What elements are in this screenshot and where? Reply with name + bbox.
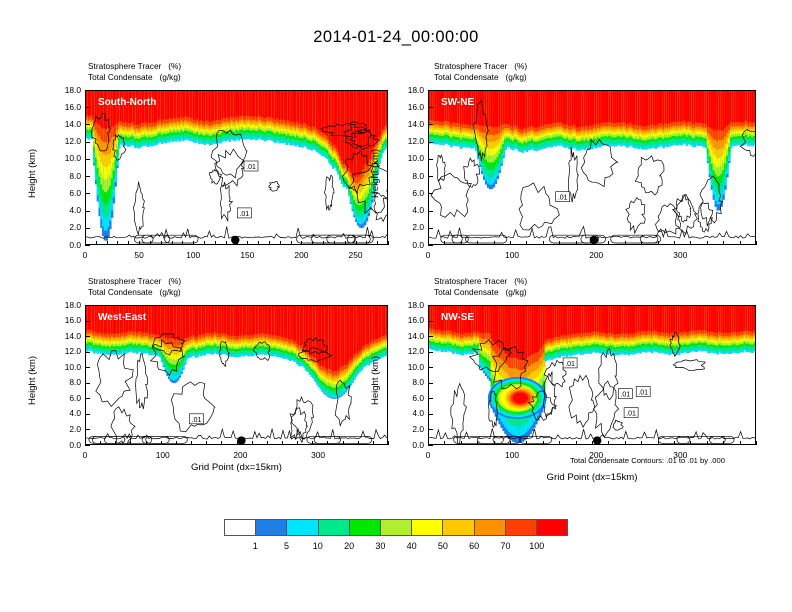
y-tick-label: 16.0 (49, 315, 81, 325)
x-axis-title: Grid Point (dx=15km) (85, 462, 388, 473)
colorbar (224, 519, 568, 536)
y-tick-mark (85, 367, 90, 368)
y-tick-mark (85, 398, 90, 399)
colorbar-swatch (256, 520, 287, 535)
x-tick-mark (258, 241, 259, 245)
y-tick-label: 18.0 (392, 300, 424, 310)
y-tick-label: 2.0 (392, 222, 424, 232)
x-tick-mark (592, 241, 593, 245)
y-tick-mark (85, 245, 90, 246)
x-tick-mark (182, 241, 183, 245)
panel-header-line1: Stratosphere Tracer (%) (88, 276, 181, 287)
x-tick-label: 100 (494, 250, 530, 260)
x-tick-mark (343, 441, 344, 445)
x-tick-mark (117, 241, 118, 245)
x-tick-mark (608, 441, 609, 445)
colorbar-swatch (443, 520, 474, 535)
y-tick-label: 0.0 (49, 440, 81, 450)
y-tick-label: 14.0 (392, 331, 424, 341)
x-tick-mark (674, 241, 675, 245)
x-tick-mark (740, 241, 741, 245)
x-tick-mark (494, 241, 495, 245)
x-tick-mark (707, 241, 708, 245)
x-tick-mark (204, 241, 205, 245)
y-tick-label: 8.0 (49, 171, 81, 181)
x-tick-mark (150, 241, 151, 245)
x-tick-mark (282, 441, 283, 445)
x-tick-mark (658, 241, 659, 245)
x-tick-mark (510, 441, 511, 445)
y-tick-mark (428, 305, 433, 306)
x-tick-label: 150 (229, 250, 265, 260)
y-axis-title: Height (km) (370, 148, 381, 197)
x-tick-label: 0 (410, 250, 446, 260)
x-tick-mark (172, 241, 173, 245)
y-tick-mark (85, 414, 90, 415)
x-tick-mark (85, 441, 86, 445)
contour-label: .01 (190, 414, 204, 424)
x-tick-mark (100, 441, 101, 445)
y-tick-mark (428, 245, 433, 246)
x-tick-mark (206, 441, 207, 445)
y-tick-mark (428, 193, 433, 194)
x-tick-mark (327, 441, 328, 445)
y-tick-label: 4.0 (392, 408, 424, 418)
x-tick-mark (559, 241, 560, 245)
colorbar-swatch (225, 520, 256, 535)
y-axis-title: Height (km) (370, 356, 381, 405)
x-tick-mark (526, 441, 527, 445)
svg-text:.01: .01 (239, 211, 249, 218)
y-tick-label: 4.0 (49, 408, 81, 418)
y-tick-label: 6.0 (49, 393, 81, 403)
x-tick-mark (161, 441, 162, 445)
y-tick-mark (85, 90, 90, 91)
x-tick-mark (477, 241, 478, 245)
x-tick-mark (366, 241, 367, 245)
x-tick-mark (461, 441, 462, 445)
y-tick-mark (85, 352, 90, 353)
y-tick-mark (428, 211, 433, 212)
y-tick-mark (428, 321, 433, 322)
x-tick-mark (723, 241, 724, 245)
y-tick-label: 6.0 (49, 188, 81, 198)
y-tick-label: 8.0 (392, 377, 424, 387)
x-tick-mark (756, 241, 757, 245)
colorbar-swatch (506, 520, 537, 535)
contour-label: .01 (563, 358, 577, 368)
y-tick-mark (85, 321, 90, 322)
y-tick-mark (85, 159, 90, 160)
y-tick-label: 10.0 (49, 362, 81, 372)
colorbar-tick-label: 100 (519, 541, 555, 551)
y-tick-label: 4.0 (392, 205, 424, 215)
x-tick-mark (221, 441, 222, 445)
y-tick-label: 14.0 (392, 119, 424, 129)
svg-text:.01: .01 (558, 195, 568, 202)
panel-header-south-north: Stratosphere Tracer (%)Total Condensate … (88, 61, 181, 82)
x-tick-mark (625, 441, 626, 445)
x-tick-mark (625, 241, 626, 245)
x-tick-mark (576, 241, 577, 245)
x-tick-mark (96, 241, 97, 245)
x-tick-mark (237, 241, 238, 245)
y-tick-mark (428, 124, 433, 125)
y-tick-mark (85, 176, 90, 177)
y-tick-label: 18.0 (392, 85, 424, 95)
x-tick-mark (267, 441, 268, 445)
x-tick-label: 200 (283, 250, 319, 260)
x-tick-mark (592, 441, 593, 445)
contour-label: .01 (237, 208, 251, 218)
panel-header-line2: Total Condensate (g/kg) (88, 287, 181, 298)
contour-label: .01 (636, 387, 650, 397)
y-tick-label: 16.0 (49, 102, 81, 112)
y-tick-label: 16.0 (392, 315, 424, 325)
y-tick-label: 14.0 (49, 331, 81, 341)
y-tick-label: 2.0 (49, 222, 81, 232)
x-tick-mark (373, 441, 374, 445)
y-tick-label: 12.0 (49, 346, 81, 356)
y-tick-mark (85, 445, 90, 446)
y-tick-label: 6.0 (392, 393, 424, 403)
x-tick-mark (641, 241, 642, 245)
y-tick-label: 8.0 (49, 377, 81, 387)
y-tick-mark (85, 336, 90, 337)
y-tick-mark (428, 176, 433, 177)
x-tick-label: 200 (222, 450, 258, 460)
y-tick-label: 18.0 (49, 85, 81, 95)
x-tick-mark (139, 241, 140, 245)
panel-header-nw-se: Stratosphere Tracer (%)Total Condensate … (434, 276, 527, 297)
x-tick-mark (107, 241, 108, 245)
y-axis-title: Height (km) (27, 356, 38, 405)
page-title: 2014-01-24_00:00:00 (0, 28, 792, 47)
x-tick-mark (576, 441, 577, 445)
y-tick-mark (85, 124, 90, 125)
y-tick-label: 16.0 (392, 102, 424, 112)
y-tick-mark (428, 352, 433, 353)
x-tick-mark (323, 241, 324, 245)
x-tick-mark (641, 441, 642, 445)
contour-label: .01 (624, 408, 638, 418)
panel-header-sw-ne: Stratosphere Tracer (%)Total Condensate … (434, 61, 527, 82)
x-axis-title: Grid Point (dx=15km) (428, 472, 756, 483)
location-marker (593, 436, 601, 444)
x-tick-mark (269, 241, 270, 245)
contour-footnote: Total Condensate Contours: .01 to .01 by… (570, 456, 725, 465)
colorbar-swatch (287, 520, 318, 535)
x-tick-label: 0 (410, 450, 446, 460)
x-tick-mark (358, 441, 359, 445)
x-tick-mark (301, 241, 302, 245)
plot-area-south-north[interactable]: .01.01South-North (85, 90, 388, 245)
y-tick-mark (85, 228, 90, 229)
y-tick-label: 14.0 (49, 119, 81, 129)
colorbar-swatch (319, 520, 350, 535)
panel-header-line1: Stratosphere Tracer (%) (88, 61, 181, 72)
y-tick-label: 18.0 (49, 300, 81, 310)
plot-area-sw-ne[interactable]: .01SW-NE (428, 90, 756, 245)
x-tick-mark (543, 441, 544, 445)
x-tick-label: 0 (67, 450, 103, 460)
x-tick-label: 100 (175, 250, 211, 260)
y-tick-label: 8.0 (392, 171, 424, 181)
x-tick-mark (128, 241, 129, 245)
x-tick-mark (146, 441, 147, 445)
x-tick-mark (345, 241, 346, 245)
y-tick-label: 2.0 (392, 424, 424, 434)
y-tick-mark (428, 383, 433, 384)
colorbar-swatch (475, 520, 506, 535)
colorbar-swatch (381, 520, 412, 535)
plot-area-west-east[interactable]: .01West-East (85, 305, 388, 445)
svg-text:.01: .01 (246, 164, 256, 171)
y-tick-label: 12.0 (392, 346, 424, 356)
x-tick-label: 250 (338, 250, 374, 260)
x-tick-mark (740, 441, 741, 445)
x-tick-mark (237, 441, 238, 445)
x-tick-mark (388, 441, 389, 445)
y-tick-mark (428, 336, 433, 337)
y-tick-mark (85, 211, 90, 212)
panel-header-line1: Stratosphere Tracer (%) (434, 61, 527, 72)
x-tick-mark (356, 241, 357, 245)
y-tick-mark (85, 429, 90, 430)
x-tick-label: 300 (300, 450, 336, 460)
x-tick-mark (161, 241, 162, 245)
x-tick-mark (658, 441, 659, 445)
x-tick-mark (291, 241, 292, 245)
y-tick-label: 2.0 (49, 424, 81, 434)
x-tick-mark (193, 241, 194, 245)
y-tick-mark (85, 193, 90, 194)
contour-label: .01 (556, 192, 570, 202)
y-tick-label: 10.0 (392, 362, 424, 372)
panel-header-line1: Stratosphere Tracer (%) (434, 276, 527, 287)
plot-area-nw-se[interactable]: .01.01.01.01NW-SE (428, 305, 756, 445)
colorbar-swatch (412, 520, 443, 535)
y-tick-label: 6.0 (392, 188, 424, 198)
x-tick-label: 50 (121, 250, 157, 260)
y-tick-mark (428, 445, 433, 446)
y-tick-mark (428, 90, 433, 91)
y-tick-mark (428, 429, 433, 430)
x-tick-mark (444, 241, 445, 245)
x-tick-label: 300 (662, 250, 698, 260)
x-tick-mark (334, 241, 335, 245)
x-tick-label: 100 (494, 450, 530, 460)
x-tick-mark (444, 441, 445, 445)
x-tick-mark (690, 441, 691, 445)
x-tick-mark (377, 241, 378, 245)
y-tick-mark (428, 107, 433, 108)
x-tick-mark (388, 241, 389, 245)
x-tick-mark (428, 441, 429, 445)
y-tick-label: 10.0 (49, 153, 81, 163)
y-tick-mark (428, 414, 433, 415)
contour-label: .01 (618, 389, 632, 399)
colorbar-swatch (537, 520, 567, 535)
y-tick-mark (85, 142, 90, 143)
x-tick-mark (191, 441, 192, 445)
y-tick-mark (85, 305, 90, 306)
y-tick-label: 0.0 (392, 240, 424, 250)
x-tick-mark (494, 441, 495, 445)
y-tick-label: 0.0 (49, 240, 81, 250)
y-tick-label: 0.0 (392, 440, 424, 450)
x-tick-mark (176, 441, 177, 445)
x-tick-mark (526, 241, 527, 245)
x-tick-mark (461, 241, 462, 245)
panel-header-line2: Total Condensate (g/kg) (434, 72, 527, 83)
x-tick-label: 0 (67, 250, 103, 260)
x-tick-mark (247, 241, 248, 245)
x-tick-mark (428, 241, 429, 245)
x-tick-mark (312, 441, 313, 445)
panel-header-line2: Total Condensate (g/kg) (434, 287, 527, 298)
y-tick-label: 12.0 (49, 136, 81, 146)
contour-label: .01 (244, 161, 258, 171)
y-tick-label: 12.0 (392, 136, 424, 146)
x-tick-mark (477, 441, 478, 445)
x-tick-mark (723, 441, 724, 445)
x-tick-mark (690, 241, 691, 245)
x-tick-mark (707, 441, 708, 445)
panel-header-west-east: Stratosphere Tracer (%)Total Condensate … (88, 276, 181, 297)
x-tick-mark (756, 441, 757, 445)
x-tick-mark (510, 241, 511, 245)
x-tick-mark (252, 441, 253, 445)
y-tick-label: 10.0 (392, 153, 424, 163)
x-tick-label: 100 (145, 450, 181, 460)
x-tick-mark (312, 241, 313, 245)
y-tick-mark (428, 159, 433, 160)
location-marker (590, 236, 598, 244)
x-tick-mark (674, 441, 675, 445)
x-tick-mark (226, 241, 227, 245)
x-tick-mark (85, 241, 86, 245)
y-axis-title: Height (km) (27, 148, 38, 197)
y-tick-mark (428, 398, 433, 399)
x-tick-mark (559, 441, 560, 445)
location-marker (237, 436, 245, 444)
x-tick-mark (215, 241, 216, 245)
y-tick-mark (428, 228, 433, 229)
x-tick-mark (297, 441, 298, 445)
x-tick-mark (608, 241, 609, 245)
y-tick-mark (85, 107, 90, 108)
x-tick-mark (130, 441, 131, 445)
x-tick-label: 200 (578, 250, 614, 260)
y-tick-mark (85, 383, 90, 384)
panel-header-line2: Total Condensate (g/kg) (88, 72, 181, 83)
colorbar-swatch (350, 520, 381, 535)
y-tick-label: 4.0 (49, 205, 81, 215)
x-tick-mark (115, 441, 116, 445)
x-tick-mark (280, 241, 281, 245)
y-tick-mark (428, 367, 433, 368)
y-tick-mark (428, 142, 433, 143)
location-marker (231, 236, 239, 244)
x-tick-mark (543, 241, 544, 245)
